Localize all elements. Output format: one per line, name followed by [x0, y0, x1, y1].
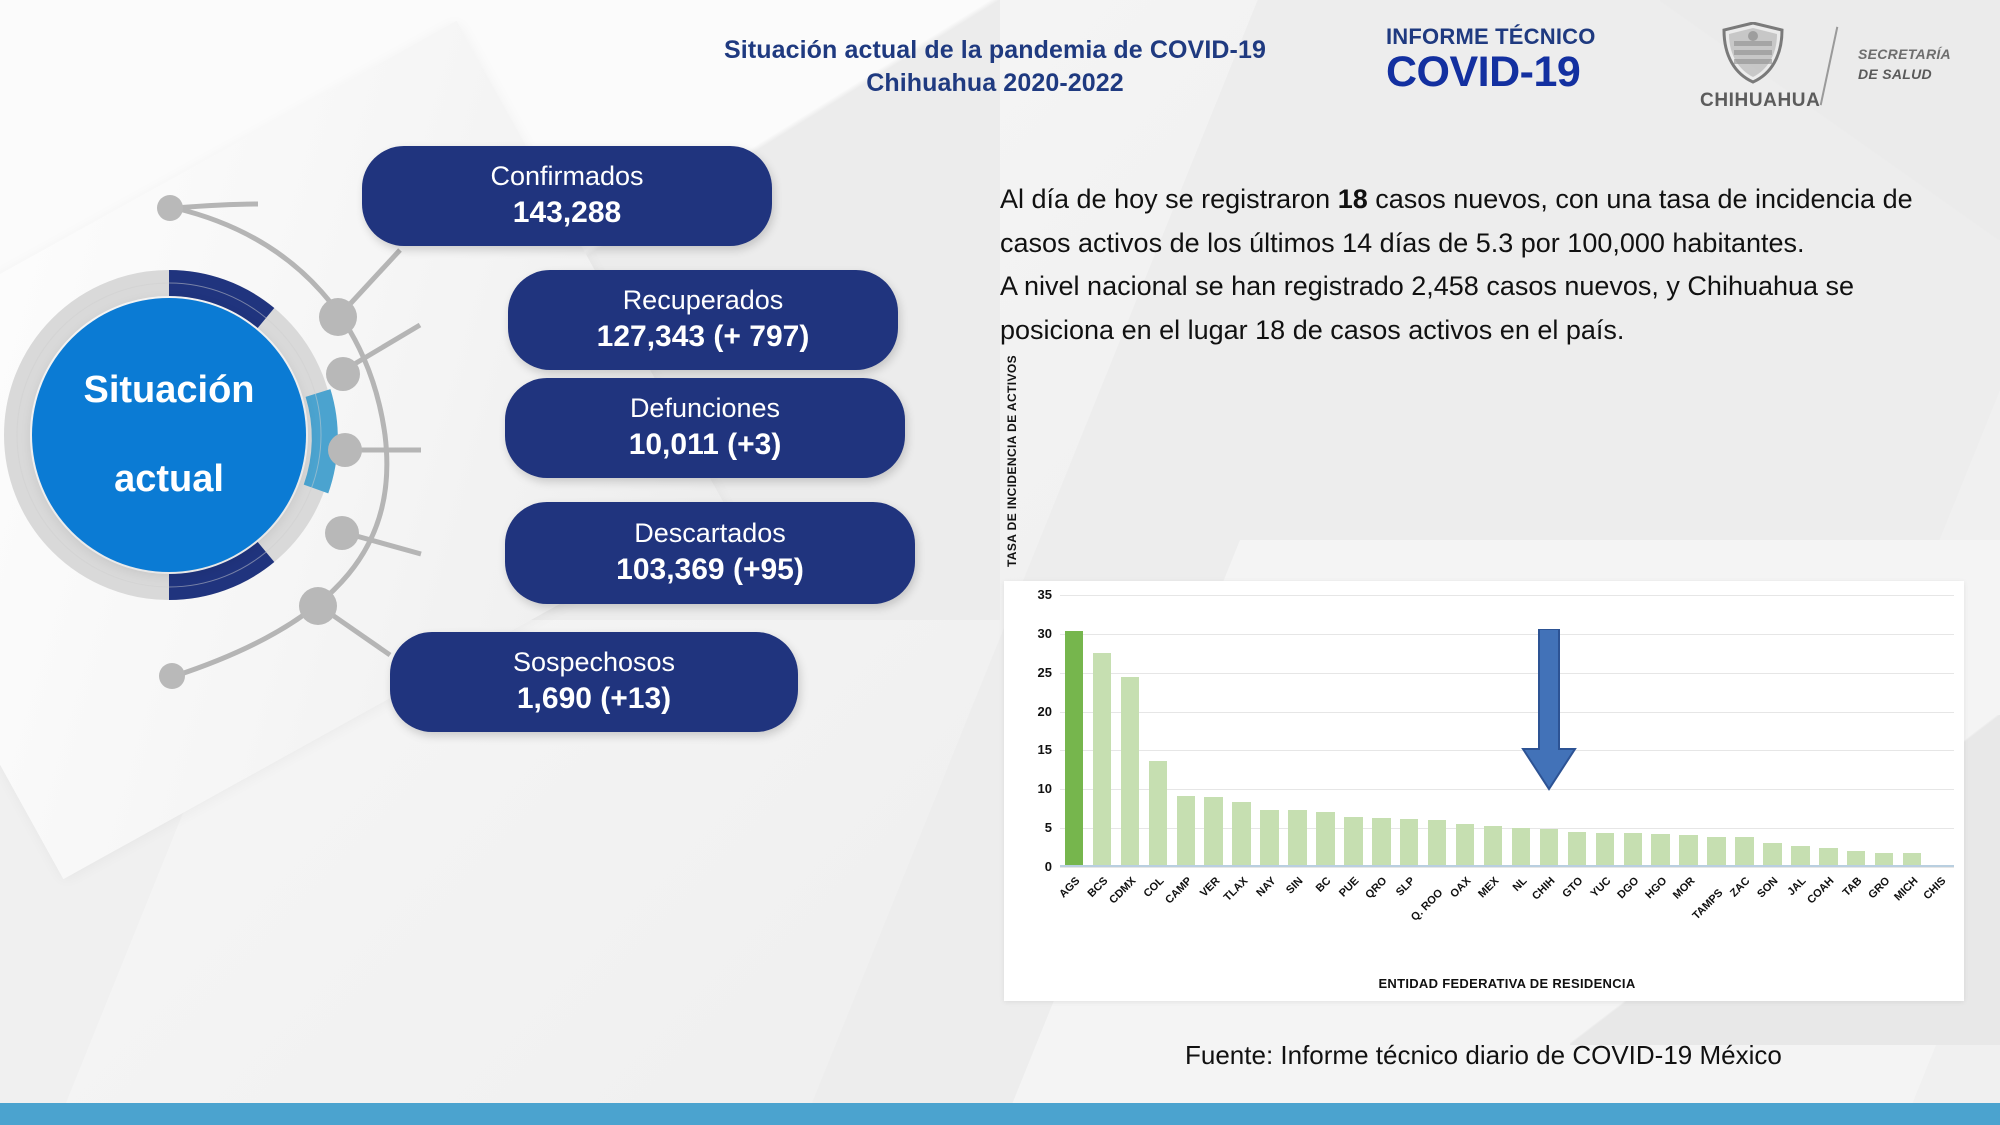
bar-cell[interactable]: [1200, 595, 1228, 867]
hub-circle: Situación actual: [32, 298, 306, 572]
bar-cell[interactable]: [1703, 595, 1731, 867]
stat-card-recuperados[interactable]: Recuperados 127,343 (+ 797): [508, 270, 898, 370]
bar[interactable]: [1568, 832, 1586, 867]
x-tick-label: ZAC: [1728, 875, 1752, 899]
situation-infographic: Situación actual Confirmados 143,288 Rec…: [0, 120, 960, 910]
bar-cell[interactable]: [1116, 595, 1144, 867]
bar[interactable]: [1651, 834, 1669, 867]
bar[interactable]: [1707, 837, 1725, 867]
bar[interactable]: [1344, 817, 1362, 867]
hub-label-line2: actual: [83, 457, 254, 502]
bar[interactable]: [1149, 761, 1167, 867]
bar-cell[interactable]: [1731, 595, 1759, 867]
bar[interactable]: [1232, 802, 1250, 867]
x-tick-label: JAL: [1786, 875, 1809, 898]
stat-label: Confirmados: [490, 161, 643, 191]
bar[interactable]: [1484, 826, 1502, 867]
shield-icon: [1721, 22, 1785, 84]
x-tick: JAL: [1786, 873, 1814, 941]
y-tick-label: 10: [1038, 781, 1060, 796]
x-tick-label: GRO: [1866, 875, 1892, 901]
x-tick: SON: [1758, 873, 1786, 941]
incidence-rate-chart: TASA DE INCIDENCIA DE ACTIVOS 3530252015…: [1004, 581, 1964, 1001]
x-tick: TAB: [1842, 873, 1870, 941]
x-tick: CHIH: [1535, 873, 1563, 941]
government-name: CHIHUAHUA: [1700, 90, 1806, 112]
bar-cell[interactable]: [1228, 595, 1256, 867]
stat-card-confirmados[interactable]: Confirmados 143,288: [362, 146, 772, 246]
report-brand: INFORME TÉCNICO COVID-19: [1386, 26, 1656, 95]
logo-divider: [1820, 27, 1839, 106]
page-header: Situación actual de la pandemia de COVID…: [0, 0, 2000, 120]
source-note: Fuente: Informe técnico diario de COVID-…: [1185, 1040, 1782, 1071]
government-logo: CHIHUAHUA SECRETARÍA DE SALUD: [1680, 22, 1990, 108]
summary-paragraph-2: A nivel nacional se han registrado 2,458…: [1000, 265, 1945, 352]
x-tick: Q. ROO: [1423, 873, 1451, 941]
x-tick-label: OAX: [1448, 875, 1473, 900]
x-tick-label: SLP: [1394, 875, 1418, 899]
x-tick-label: YUC: [1588, 875, 1613, 900]
chart-x-axis-line: [1060, 865, 1954, 867]
x-tick-label: TAB: [1841, 875, 1865, 899]
chart-y-axis-label: TASA DE INCIDENCIA DE ACTIVOS: [1002, 331, 1022, 591]
x-tick: PUE: [1339, 873, 1367, 941]
stat-value: 1,690 (+13): [517, 681, 671, 717]
bar-cell[interactable]: [1870, 595, 1898, 867]
x-tick: NAY: [1256, 873, 1284, 941]
bar-cell[interactable]: [1423, 595, 1451, 867]
x-tick-label: MEX: [1476, 875, 1501, 900]
x-tick-label: SIN: [1284, 875, 1305, 896]
x-tick: ZAC: [1731, 873, 1759, 941]
hub-label: Situación actual: [83, 368, 254, 502]
bar-cell[interactable]: [1675, 595, 1703, 867]
bar-cell[interactable]: [1786, 595, 1814, 867]
bar-cell[interactable]: [1311, 595, 1339, 867]
x-tick-label: HGO: [1643, 875, 1669, 901]
x-tick: DGO: [1619, 873, 1647, 941]
bar[interactable]: [1791, 846, 1809, 867]
bar-cell[interactable]: [1256, 595, 1284, 867]
summary-text: Al día de hoy se registraron 18 casos nu…: [1000, 178, 1945, 353]
bar-cell[interactable]: [1451, 595, 1479, 867]
bar[interactable]: [1428, 820, 1446, 867]
page-title-line2: Chihuahua 2020-2022: [600, 67, 1390, 100]
shield-logo: CHIHUAHUA: [1700, 22, 1806, 112]
x-tick-label: AGS: [1057, 875, 1082, 900]
bar-cell[interactable]: [1898, 595, 1926, 867]
x-tick: AGS: [1060, 873, 1088, 941]
x-tick: MICH: [1898, 873, 1926, 941]
summary-p1-a: Al día de hoy se registraron: [1000, 184, 1338, 214]
bar[interactable]: [1456, 824, 1474, 867]
x-tick: GRO: [1870, 873, 1898, 941]
bar[interactable]: [1288, 810, 1306, 867]
report-brand-line1: INFORME TÉCNICO: [1386, 26, 1656, 48]
x-tick: CAMP: [1172, 873, 1200, 941]
bar-cell[interactable]: [1619, 595, 1647, 867]
stat-label: Sospechosos: [513, 647, 675, 677]
x-tick: YUC: [1591, 873, 1619, 941]
y-tick-label: 5: [1045, 820, 1060, 835]
x-tick-label: COL: [1141, 875, 1166, 900]
x-tick: OAX: [1451, 873, 1479, 941]
x-tick: HGO: [1647, 873, 1675, 941]
bar[interactable]: [1735, 837, 1753, 867]
bar-cell[interactable]: [1758, 595, 1786, 867]
bar[interactable]: [1596, 833, 1614, 867]
bar-cell[interactable]: [1060, 595, 1088, 867]
chart-bars: [1060, 595, 1954, 867]
bar-cell[interactable]: [1088, 595, 1116, 867]
bar-cell[interactable]: [1591, 595, 1619, 867]
report-brand-line2: COVID-19: [1386, 50, 1656, 95]
x-tick-label: CHIS: [1921, 875, 1948, 902]
bar-cell[interactable]: [1172, 595, 1200, 867]
bar[interactable]: [1372, 818, 1390, 867]
x-tick-label: DGO: [1615, 875, 1641, 901]
bar-cell[interactable]: [1479, 595, 1507, 867]
x-tick: VER: [1200, 873, 1228, 941]
stat-label: Descartados: [634, 518, 786, 548]
x-tick: TLAX: [1228, 873, 1256, 941]
stat-card-descartados[interactable]: Descartados 103,369 (+95): [505, 502, 915, 604]
x-tick-label: NL: [1511, 875, 1530, 894]
y-tick-label: 25: [1038, 665, 1060, 680]
x-tick: NL: [1507, 873, 1535, 941]
gridline: [1060, 867, 1954, 868]
bar-cell[interactable]: [1367, 595, 1395, 867]
bar-cell[interactable]: [1926, 595, 1954, 867]
bar[interactable]: [1512, 828, 1530, 867]
y-tick-label: 20: [1038, 704, 1060, 719]
bar[interactable]: [1763, 843, 1781, 867]
bar[interactable]: [1204, 797, 1222, 867]
bar[interactable]: [1177, 796, 1195, 867]
stat-value: 103,369 (+95): [616, 552, 804, 588]
bar[interactable]: [1121, 677, 1139, 867]
hub-label-line1: Situación: [83, 368, 254, 413]
bar[interactable]: [1624, 833, 1642, 867]
x-tick: MEX: [1479, 873, 1507, 941]
stat-label: Defunciones: [630, 393, 780, 423]
bar[interactable]: [1093, 653, 1111, 867]
y-tick-label: 30: [1038, 626, 1060, 641]
x-tick-label: PUE: [1337, 875, 1361, 899]
bar-cell[interactable]: [1144, 595, 1172, 867]
x-tick: QRO: [1367, 873, 1395, 941]
x-tick: TAMPS: [1703, 873, 1731, 941]
x-tick: CHIS: [1926, 873, 1954, 941]
x-tick: BC: [1311, 873, 1339, 941]
x-tick-label: VER: [1198, 875, 1222, 899]
bar-cell[interactable]: [1339, 595, 1367, 867]
x-tick-label: BCS: [1085, 875, 1110, 900]
bar-cell[interactable]: [1647, 595, 1675, 867]
x-tick-label: SON: [1756, 875, 1781, 900]
x-tick: COL: [1144, 873, 1172, 941]
bar-cell[interactable]: [1284, 595, 1312, 867]
x-tick-label: QRO: [1364, 875, 1390, 901]
x-tick: COAH: [1814, 873, 1842, 941]
stat-value: 10,011 (+3): [629, 427, 782, 463]
x-tick-label: NAY: [1254, 875, 1278, 899]
secretaria-line1: SECRETARÍA: [1858, 44, 1951, 64]
bar[interactable]: [1679, 835, 1697, 867]
bar[interactable]: [1540, 829, 1558, 867]
stat-value: 143,288: [513, 195, 621, 231]
bar[interactable]: [1065, 631, 1083, 867]
page-title-line1: Situación actual de la pandemia de COVID…: [600, 34, 1390, 67]
y-tick-label: 15: [1038, 743, 1060, 758]
bar[interactable]: [1260, 810, 1278, 868]
x-tick-label: GTO: [1560, 875, 1585, 900]
arrow-down-icon: [1519, 629, 1579, 809]
stat-value: 127,343 (+ 797): [597, 319, 810, 355]
bar-cell[interactable]: [1842, 595, 1870, 867]
x-tick: GTO: [1563, 873, 1591, 941]
page-title: Situación actual de la pandemia de COVID…: [600, 34, 1390, 100]
bar-cell[interactable]: [1395, 595, 1423, 867]
x-tick: BCS: [1088, 873, 1116, 941]
x-tick-label: BC: [1314, 875, 1334, 895]
x-tick: CDMX: [1116, 873, 1144, 941]
chart-x-axis-label: ENTIDAD FEDERATIVA DE RESIDENCIA: [1060, 976, 1954, 991]
stat-label: Recuperados: [623, 285, 784, 315]
chart-plot-area: 35302520151050: [1060, 595, 1954, 867]
bottom-accent-bar: [0, 1103, 2000, 1125]
y-tick-label: 35: [1038, 587, 1060, 602]
bar[interactable]: [1400, 819, 1418, 867]
stat-card-sospechosos[interactable]: Sospechosos 1,690 (+13): [390, 632, 798, 732]
bar[interactable]: [1316, 812, 1334, 867]
summary-paragraph-1: Al día de hoy se registraron 18 casos nu…: [1000, 178, 1945, 265]
summary-new-cases-value: 18: [1338, 184, 1368, 214]
x-tick-label: CHIH: [1530, 875, 1557, 902]
bar-cell[interactable]: [1814, 595, 1842, 867]
stat-card-defunciones[interactable]: Defunciones 10,011 (+3): [505, 378, 905, 478]
x-tick-label: MOR: [1670, 875, 1697, 902]
secretaria-logo-text: SECRETARÍA DE SALUD: [1858, 44, 1951, 85]
secretaria-line2: DE SALUD: [1858, 64, 1951, 84]
chart-x-tick-labels: AGSBCSCDMXCOLCAMPVERTLAXNAYSINBCPUEQROSL…: [1060, 873, 1954, 941]
x-tick: SIN: [1284, 873, 1312, 941]
y-tick-label: 0: [1045, 859, 1060, 874]
